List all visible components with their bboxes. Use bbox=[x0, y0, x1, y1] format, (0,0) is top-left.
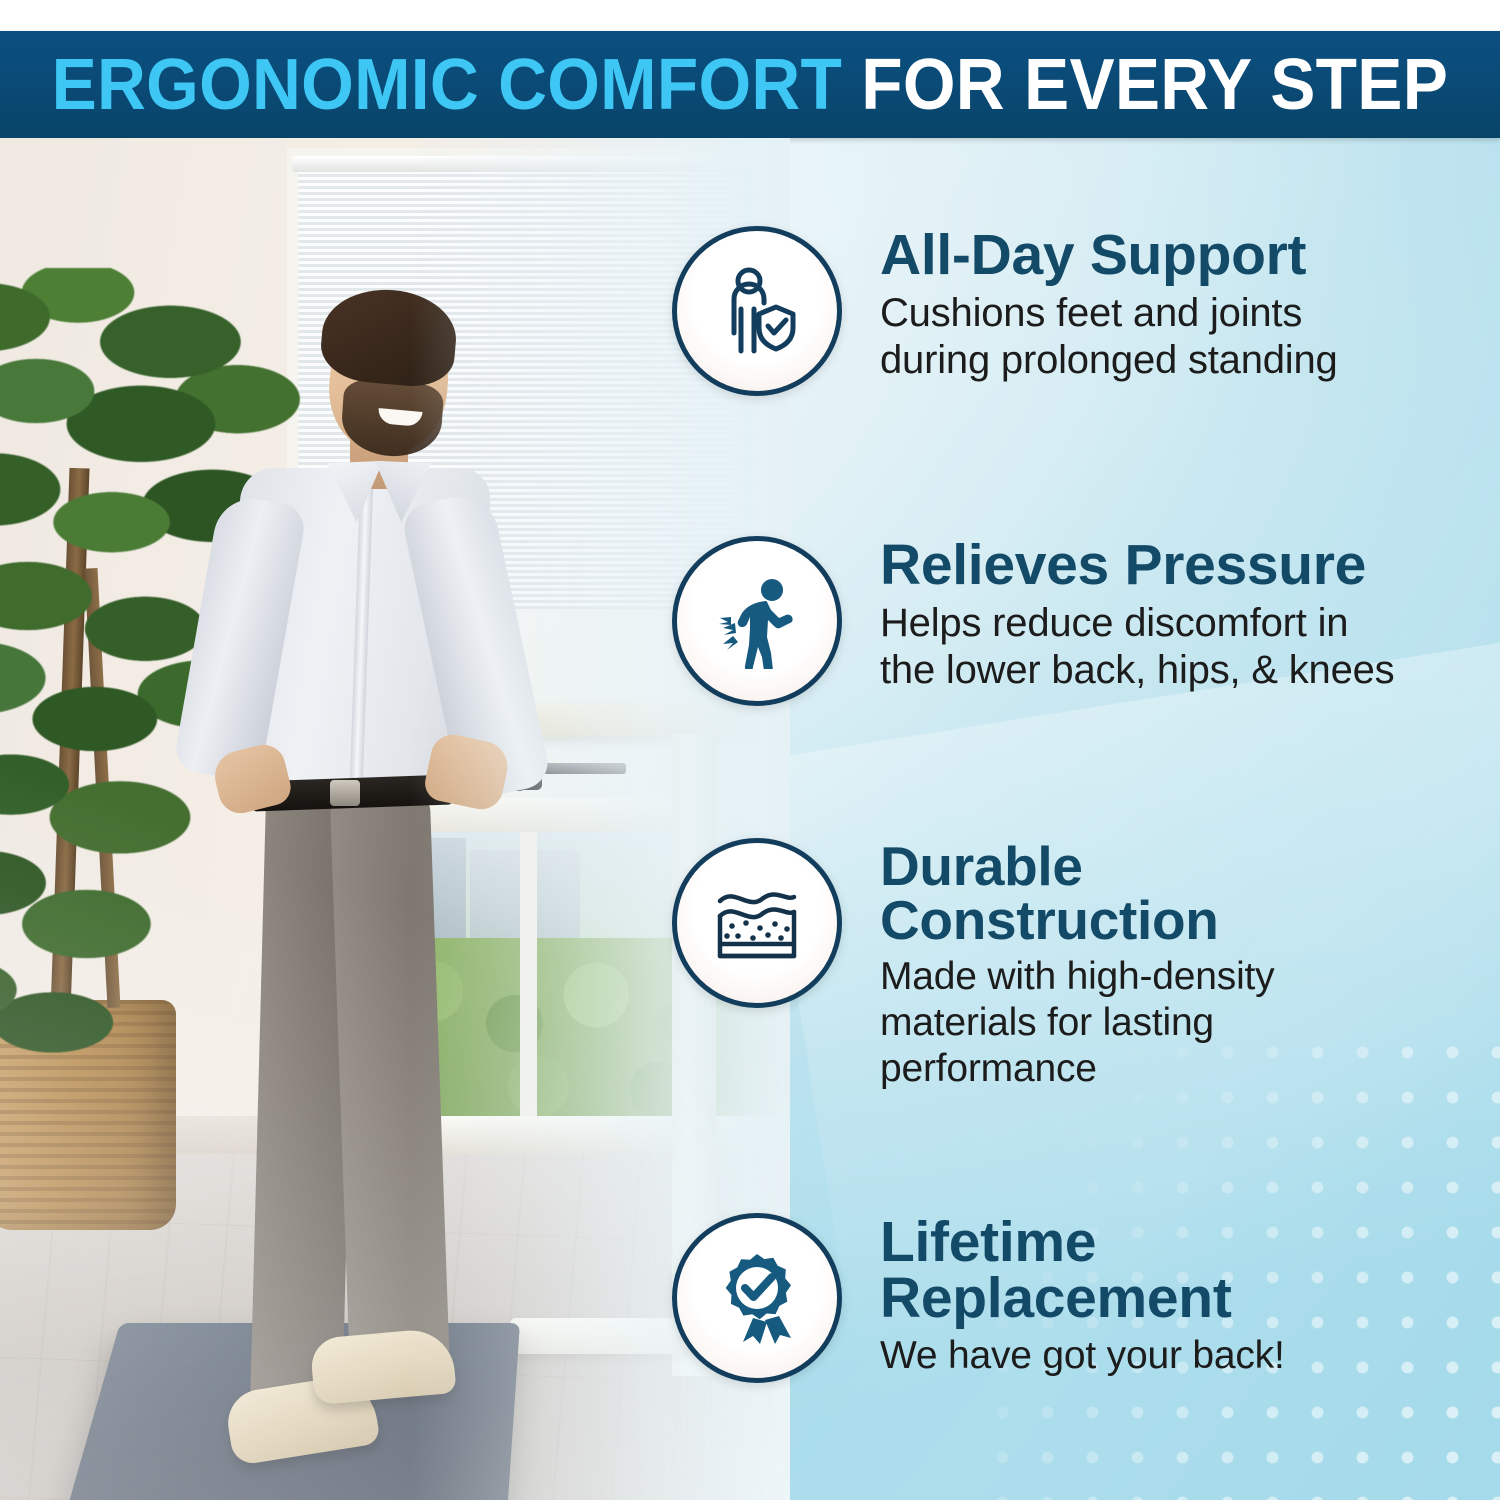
feature-title: All-Day Support bbox=[880, 228, 1338, 284]
banner-headline-highlight: ERGONOMIC COMFORT bbox=[52, 45, 843, 125]
feature-text-block: Durable Construction Made with high-dens… bbox=[880, 838, 1274, 1092]
banner-headline-plain: FOR EVERY STEP bbox=[842, 45, 1448, 125]
feature-text-block: Relieves Pressure Helps reduce discomfor… bbox=[880, 536, 1394, 694]
feature-description: Helps reduce discomfort in the lower bac… bbox=[880, 600, 1394, 694]
feature-description: We have got your back! bbox=[880, 1333, 1285, 1379]
infographic-page: ERGONOMIC COMFORT FOR EVERY STEP bbox=[0, 0, 1500, 1500]
header-banner: ERGONOMIC COMFORT FOR EVERY STEP bbox=[0, 31, 1500, 138]
back-pain-person-icon bbox=[672, 536, 842, 706]
feature-item-relieves-pressure: Relieves Pressure Helps reduce discomfor… bbox=[672, 536, 1394, 706]
feature-list: All-Day Support Cushions feet and joints… bbox=[660, 138, 1500, 1500]
feature-description: Made with high-density materials for las… bbox=[880, 954, 1274, 1092]
person-shield-icon bbox=[672, 226, 842, 396]
banner-headline: ERGONOMIC COMFORT FOR EVERY STEP bbox=[52, 49, 1449, 121]
feature-text-block: Lifetime Replacement We have got your ba… bbox=[880, 1213, 1285, 1379]
layered-foam-icon bbox=[672, 838, 842, 1008]
feature-item-all-day-support: All-Day Support Cushions feet and joints… bbox=[672, 226, 1338, 396]
feature-title: Durable Construction bbox=[880, 840, 1274, 948]
feature-text-block: All-Day Support Cushions feet and joints… bbox=[880, 226, 1338, 384]
feature-item-durable-construction: Durable Construction Made with high-dens… bbox=[672, 838, 1274, 1092]
feature-item-lifetime-replacement: Lifetime Replacement We have got your ba… bbox=[672, 1213, 1285, 1383]
feature-title: Relieves Pressure bbox=[880, 538, 1394, 594]
feature-title: Lifetime Replacement bbox=[880, 1215, 1285, 1327]
feature-description: Cushions feet and joints during prolonge… bbox=[880, 290, 1338, 384]
award-badge-check-icon bbox=[672, 1213, 842, 1383]
